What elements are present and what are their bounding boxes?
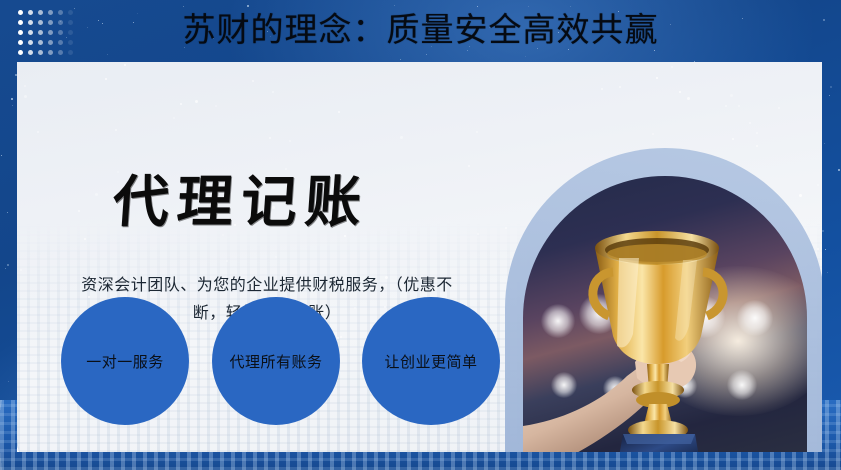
trophy-illustration [523, 176, 807, 452]
slide-canvas: 苏财的理念：质量安全高效共赢 [0, 0, 841, 470]
main-heading: 代理记账 [111, 170, 372, 236]
feature-circle-easier-startup[interactable]: 让创业更简单 [362, 297, 500, 425]
feature-circle-one-on-one-service[interactable]: 一对一服务 [61, 297, 189, 425]
page-title: 苏财的理念：质量安全高效共赢 [0, 8, 841, 52]
feature-circle-label: 一对一服务 [86, 351, 164, 372]
feature-circle-label: 让创业更简单 [384, 351, 477, 372]
feature-circle-label: 代理所有账务 [229, 351, 322, 372]
feature-circles: 一对一服务 代理所有账务 让创业更简单 [44, 297, 504, 427]
trophy-photo-frame [505, 148, 822, 452]
feature-circle-all-bookkeeping[interactable]: 代理所有账务 [212, 297, 340, 425]
content-card: 代理记账 资深会计团队、为您的企业提供财税服务，（优惠不断，轻松创业记账） 一对… [17, 62, 822, 452]
trophy-photo [523, 176, 807, 452]
